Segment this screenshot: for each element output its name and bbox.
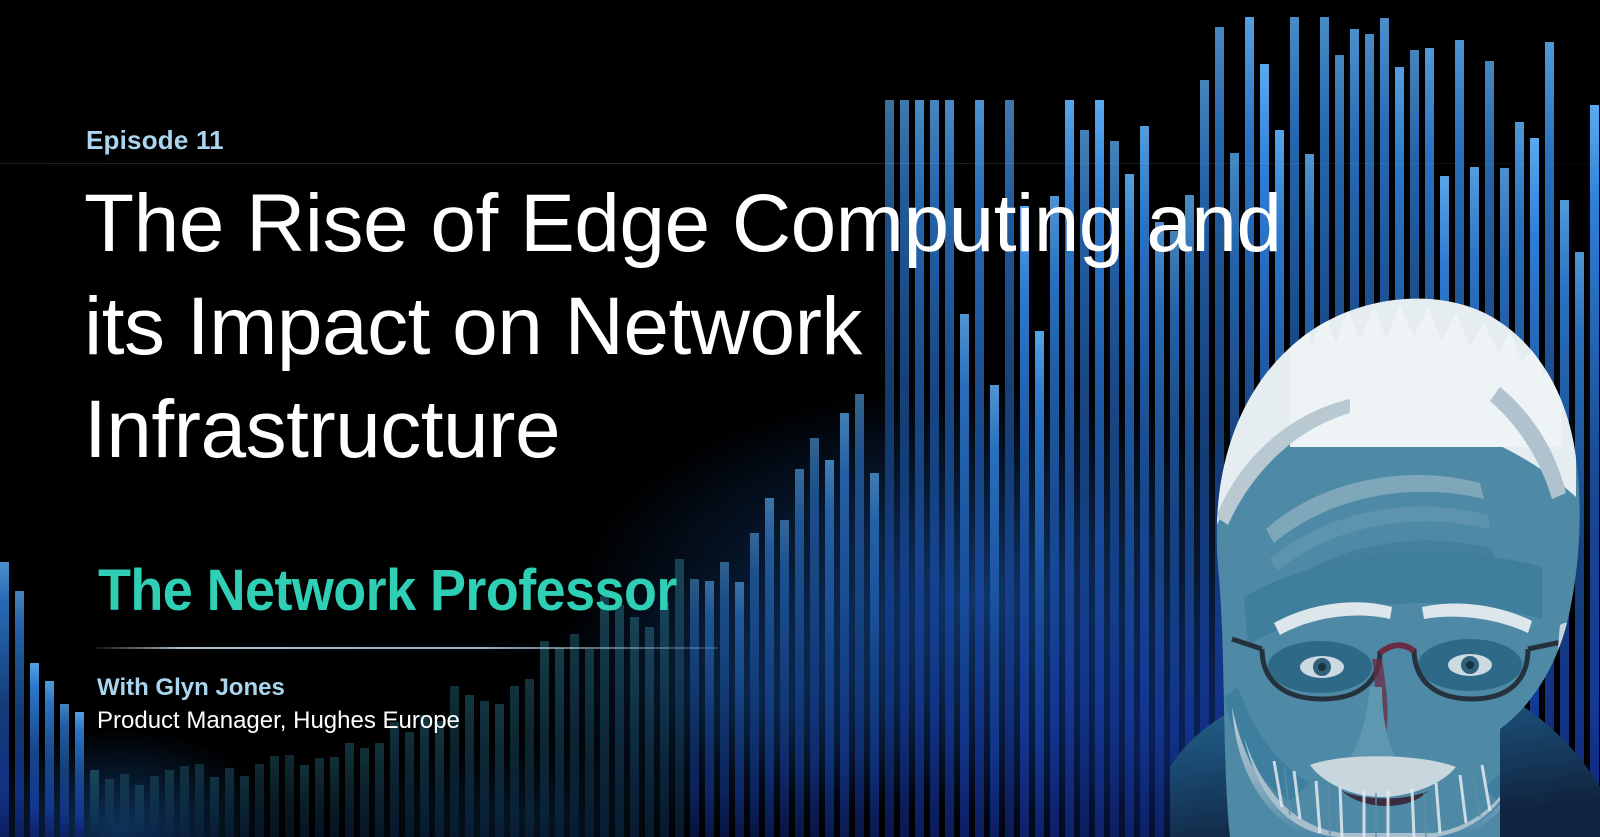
title-line-1: The Rise of Edge Computing and (84, 172, 1264, 275)
brand-underline-rule (96, 647, 718, 649)
text-content: Episode 11 The Rise of Edge Computing an… (0, 0, 1600, 837)
speaker-name: With Glyn Jones (97, 674, 285, 702)
show-brand-name: The Network Professor (98, 557, 677, 624)
page-title: The Rise of Edge Computing and its Impac… (84, 172, 1264, 481)
speaker-role: Product Manager, Hughes Europe (97, 707, 460, 735)
title-line-3: Infrastructure (84, 378, 1264, 481)
title-line-2: its Impact on Network (84, 275, 1264, 378)
podcast-title-slide: Episode 11 The Rise of Edge Computing an… (0, 0, 1600, 837)
episode-label: Episode 11 (86, 125, 224, 156)
